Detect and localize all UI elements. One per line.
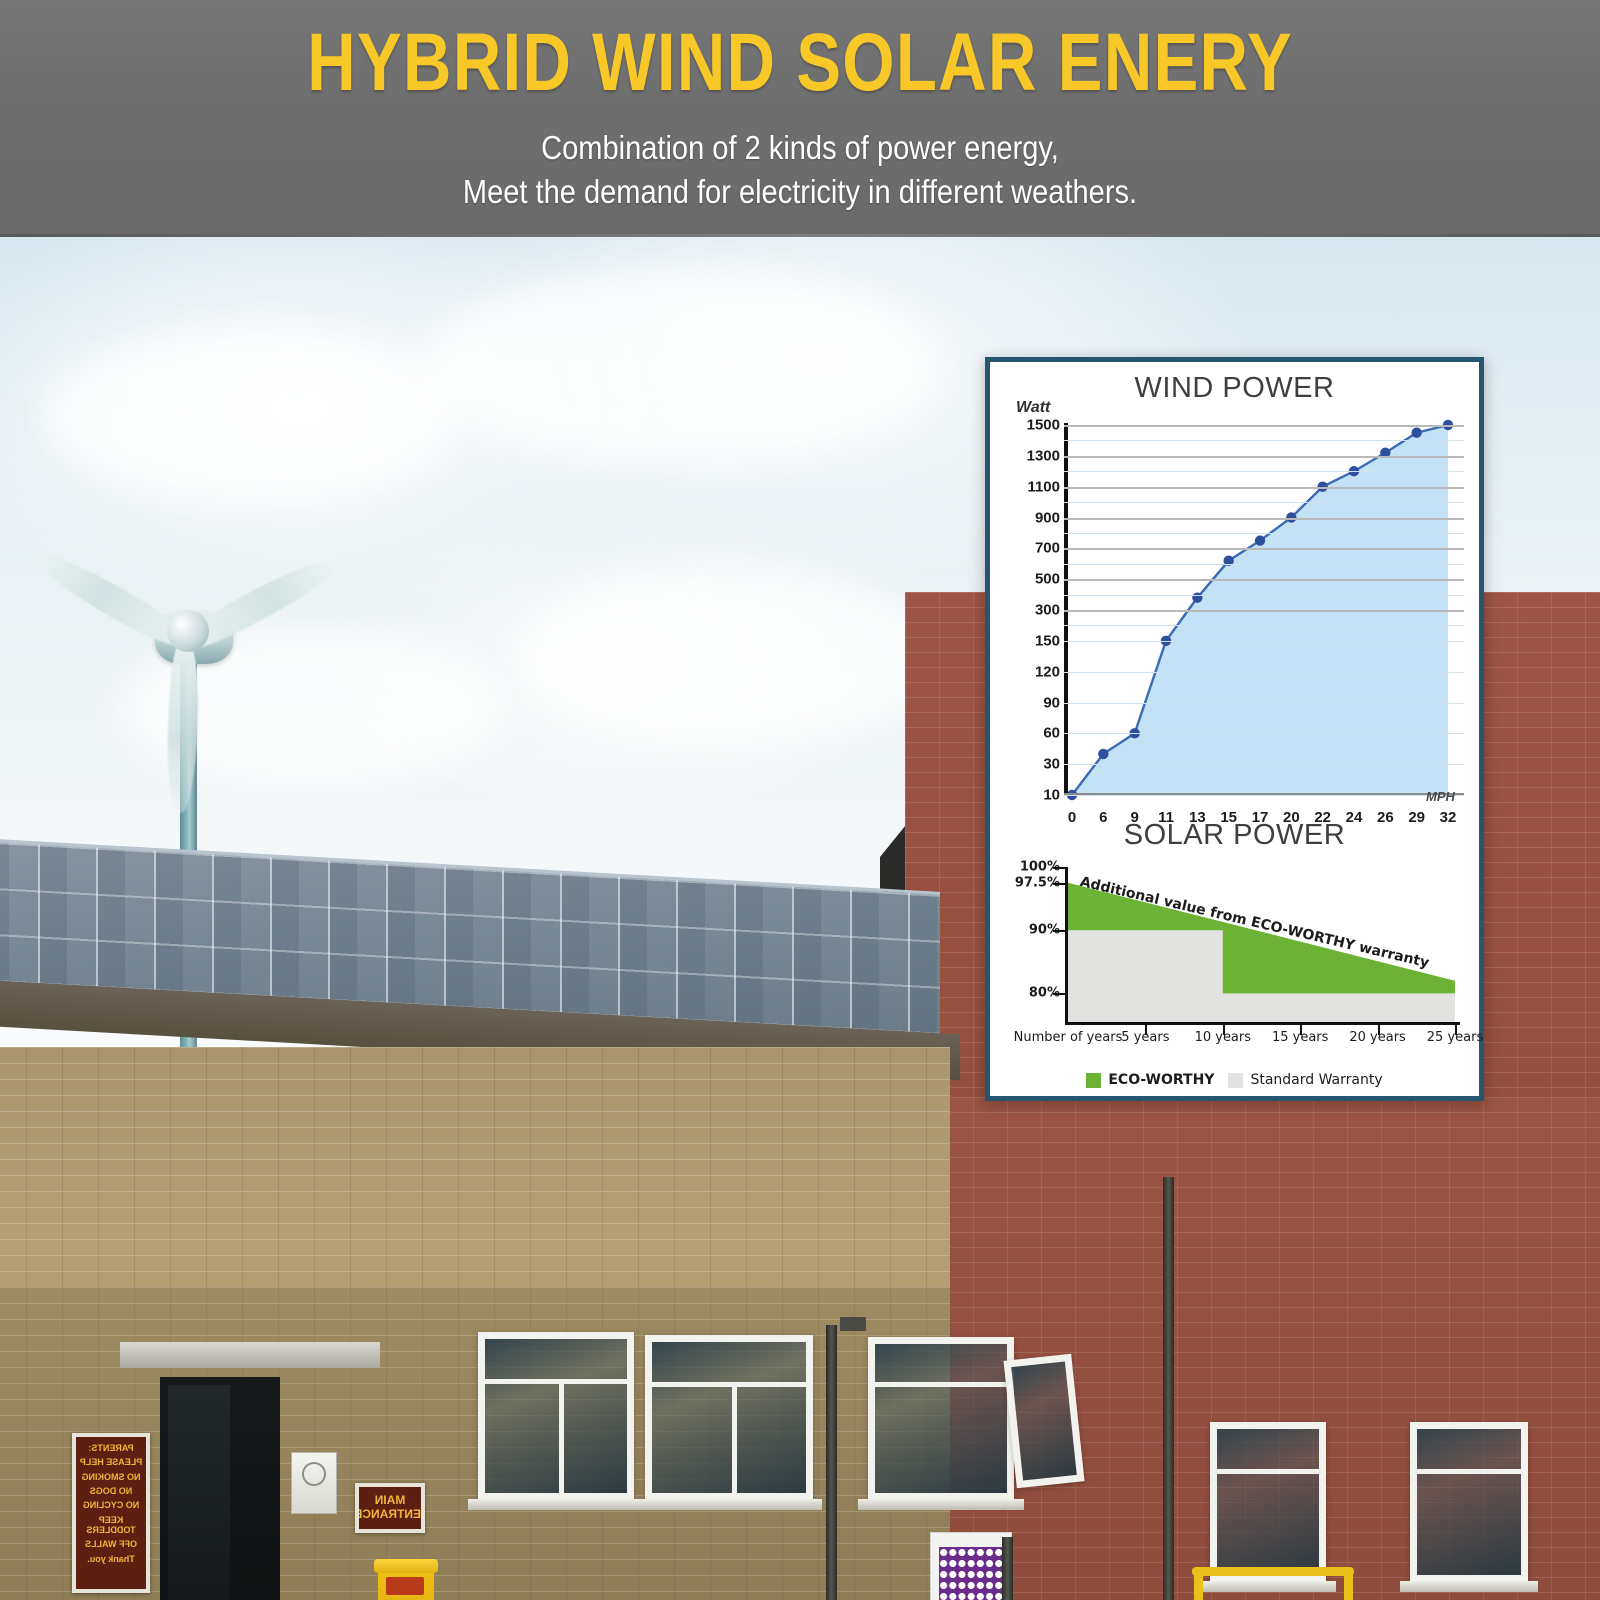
header-banner: HYBRID WIND SOLAR ENERY Combination of 2… bbox=[0, 0, 1600, 237]
wind-chart-svg bbox=[1064, 417, 1464, 807]
legend-label: Standard Warranty bbox=[1250, 1072, 1382, 1088]
sign-line: KEEP TODDLERS bbox=[78, 1515, 144, 1536]
solar-chart-ytick-mark bbox=[1053, 993, 1065, 995]
wind-chart-ytick-label: 90 bbox=[1043, 694, 1060, 711]
wind-chart-title: WIND POWER bbox=[990, 372, 1479, 405]
sign-line: PARENTS: bbox=[78, 1443, 144, 1453]
wind-chart-gridline bbox=[1064, 564, 1464, 565]
door-canopy bbox=[120, 1342, 380, 1368]
drainpipe bbox=[826, 1325, 837, 1600]
wind-chart-gridline bbox=[1064, 502, 1464, 503]
subtitle-line-2: Meet the demand for electricity in diffe… bbox=[96, 170, 1504, 214]
solar-chart-xaxis-labels: Number of years5 years10 years15 years20… bbox=[990, 1030, 1479, 1054]
wind-chart-ytick-label: 700 bbox=[1035, 540, 1060, 557]
wind-chart-ytick-label: 30 bbox=[1043, 756, 1060, 773]
wind-chart-axes bbox=[1064, 417, 1464, 807]
wind-chart-gridline bbox=[1064, 641, 1464, 642]
sign-line: PLEASE HELP bbox=[78, 1457, 144, 1467]
drainpipe bbox=[1163, 1177, 1174, 1600]
sign-line: OFF WALLS bbox=[78, 1539, 144, 1549]
header-subtitle: Combination of 2 kinds of power energy, … bbox=[96, 126, 1504, 214]
building-window bbox=[1003, 1354, 1084, 1488]
door-notice-symbol bbox=[302, 1462, 326, 1486]
solar-chart-xtick-label: 20 years bbox=[1349, 1030, 1405, 1045]
solar-chart-xtick-label: 15 years bbox=[1272, 1030, 1328, 1045]
wind-chart-gridline bbox=[1064, 733, 1464, 734]
wind-chart-gridline bbox=[1064, 610, 1464, 612]
wind-chart-gridline bbox=[1064, 625, 1464, 626]
solar-chart-legend: ECO-WORTHY Standard Warranty bbox=[990, 1072, 1479, 1088]
wind-chart-gridline bbox=[1064, 518, 1464, 520]
wind-chart-ytick-label: 150 bbox=[1035, 632, 1060, 649]
solar-chart-yaxis-labels: 100%97.5%90%80% bbox=[994, 867, 1060, 1022]
wind-chart-ytick-label: 1500 bbox=[1027, 417, 1060, 434]
wind-chart-ytick-label: 120 bbox=[1035, 663, 1060, 680]
solar-chart-title: SOLAR POWER bbox=[990, 819, 1479, 852]
wind-chart-data-point bbox=[1255, 535, 1265, 545]
wind-chart-gridline bbox=[1064, 440, 1464, 441]
wind-chart-plot: 15001300110090070050030015012090603010 0… bbox=[990, 417, 1479, 807]
wind-chart-gridline bbox=[1064, 456, 1464, 458]
wind-chart-gridline bbox=[1064, 795, 1464, 796]
sign-line: NO SMOKING bbox=[78, 1472, 144, 1482]
solar-chart-xtick-label: Number of years bbox=[1014, 1030, 1123, 1045]
building-window bbox=[478, 1332, 634, 1500]
wind-chart-gridline bbox=[1064, 487, 1464, 489]
wind-chart-ytick-label: 1100 bbox=[1027, 478, 1060, 495]
legend-color-swatch bbox=[1086, 1073, 1101, 1088]
wind-chart-y-axis-line bbox=[1064, 423, 1068, 795]
legend-item-eco-worthy: ECO-WORTHY bbox=[1086, 1072, 1214, 1088]
wind-chart-ytick-label: 1300 bbox=[1027, 447, 1060, 464]
solar-chart-ytick-mark bbox=[1053, 930, 1065, 932]
solar-chart-y-axis-line bbox=[1065, 867, 1068, 1025]
turbine-hub bbox=[167, 610, 209, 652]
window-sill bbox=[636, 1499, 822, 1510]
wind-chart-gridline bbox=[1064, 533, 1464, 534]
sign-line: NO DOGS bbox=[78, 1486, 144, 1496]
wind-chart-data-point bbox=[1411, 428, 1421, 438]
entrance-door bbox=[168, 1385, 230, 1600]
solar-chart-xtick-label: 10 years bbox=[1195, 1030, 1251, 1045]
page-title: HYBRID WIND SOLAR ENERY bbox=[144, 17, 1456, 109]
downspout bbox=[840, 1317, 866, 1331]
waste-bin-label bbox=[386, 1577, 424, 1595]
building-window bbox=[868, 1337, 1014, 1500]
safety-handrail bbox=[1192, 1567, 1354, 1600]
drainpipe bbox=[1002, 1537, 1013, 1600]
sign-line: NO CYCLING bbox=[78, 1500, 144, 1510]
solar-chart-ytick-mark bbox=[1053, 883, 1065, 885]
wind-chart-gridline bbox=[1064, 595, 1464, 596]
sign-line: MAIN bbox=[359, 1494, 421, 1508]
wind-chart-yaxis-unit: Watt bbox=[1016, 399, 1050, 417]
wind-chart-gridline bbox=[1064, 764, 1464, 765]
solar-chart-ytick-mark bbox=[1053, 867, 1065, 869]
wind-chart-ytick-label: 500 bbox=[1035, 571, 1060, 588]
wind-chart-gridline bbox=[1064, 703, 1464, 704]
wind-chart-gridline bbox=[1064, 425, 1464, 427]
wall-poster-artwork bbox=[939, 1547, 1003, 1600]
wind-chart-ytick-label: 900 bbox=[1035, 509, 1060, 526]
solar-chart-xtick-label: 5 years bbox=[1121, 1030, 1169, 1045]
wind-chart-yaxis-labels: 15001300110090070050030015012090603010 bbox=[998, 417, 1060, 807]
wind-chart-data-point bbox=[1098, 749, 1108, 759]
sign-line: Thank you. bbox=[78, 1554, 144, 1564]
wind-chart-ytick-label: 300 bbox=[1035, 602, 1060, 619]
window-sill bbox=[858, 1499, 1024, 1510]
power-charts-panel: WIND POWER Watt 150013001100900700500300… bbox=[985, 357, 1484, 1101]
subtitle-line-1: Combination of 2 kinds of power energy, bbox=[96, 126, 1504, 170]
main-entrance-sign: MAIN ENTRANCE bbox=[355, 1483, 425, 1533]
wind-chart-ytick-label: 10 bbox=[1043, 787, 1060, 804]
wind-chart-gridline bbox=[1064, 471, 1464, 472]
parents-notice-sign: PARENTS: PLEASE HELP NO SMOKING NO DOGS … bbox=[72, 1433, 150, 1593]
waste-bin-lid bbox=[374, 1559, 438, 1573]
solar-chart-xtick-label: 25 years bbox=[1427, 1030, 1483, 1045]
legend-item-standard-warranty: Standard Warranty bbox=[1228, 1072, 1382, 1088]
wind-chart-xaxis-unit: MPH bbox=[1426, 789, 1455, 804]
building-window bbox=[1410, 1422, 1528, 1582]
wind-chart-gridline bbox=[1064, 548, 1464, 550]
wind-chart-gridline bbox=[1064, 579, 1464, 581]
cloud-shape bbox=[40, 327, 460, 502]
wind-chart-gridline bbox=[1064, 672, 1464, 673]
solar-chart-x-axis-line bbox=[1065, 1022, 1460, 1025]
legend-color-swatch bbox=[1228, 1073, 1243, 1088]
building-window bbox=[645, 1335, 813, 1500]
legend-label: ECO-WORTHY bbox=[1108, 1072, 1214, 1088]
window-sill bbox=[468, 1499, 644, 1510]
window-sill bbox=[1400, 1581, 1538, 1592]
cloud-shape bbox=[520, 567, 950, 747]
wind-chart-ytick-label: 60 bbox=[1043, 725, 1060, 742]
sign-line: ENTRANCE bbox=[359, 1508, 421, 1522]
cloud-shape bbox=[420, 267, 940, 467]
building-window bbox=[1210, 1422, 1326, 1582]
